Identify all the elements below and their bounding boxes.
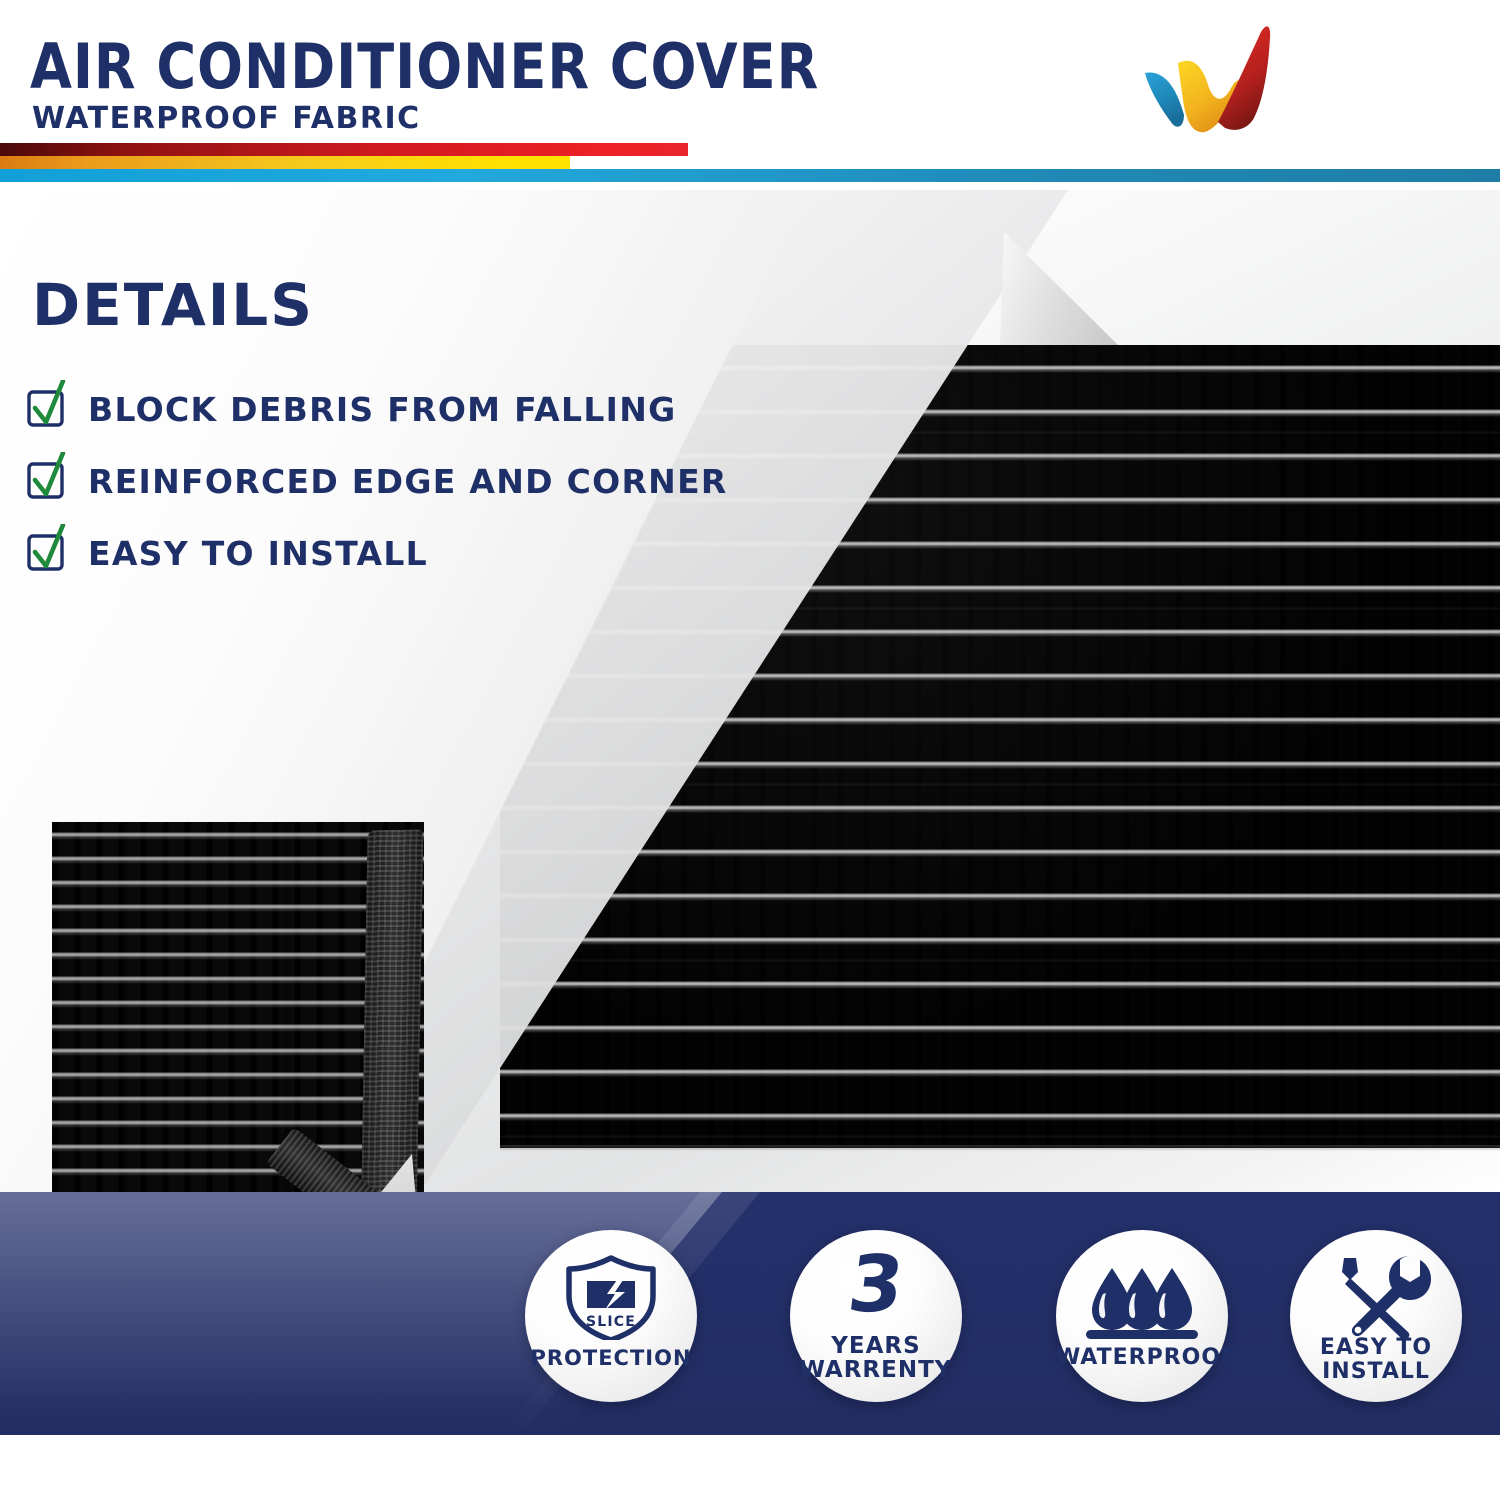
badge-label-line1: YEARS <box>831 1333 920 1359</box>
shield-slice-icon: SLICE <box>525 1252 697 1340</box>
brand-wave-logo-icon <box>1135 10 1295 150</box>
list-item: REINFORCED EDGE AND CORNER <box>26 452 806 524</box>
footer-feature-band: SLICE PROTECTION 3 YEARS WARRENTY <box>0 1192 1500 1435</box>
details-heading: DETAILS <box>32 276 314 334</box>
page-title: AIR CONDITIONER COVER <box>30 36 819 98</box>
details-panel: DETAILS BLOCK DEBRIS FROM FALLING <box>0 190 820 670</box>
wrench-screwdriver-icon <box>1290 1252 1462 1340</box>
svg-text:SLICE: SLICE <box>586 1314 636 1330</box>
product-infographic: AIR CONDITIONER COVER WATERPROOF FABRIC <box>0 0 1500 1500</box>
list-item: EASY TO INSTALL <box>26 524 806 596</box>
feature-badges: SLICE PROTECTION 3 YEARS WARRENTY <box>0 1192 1500 1435</box>
number-3-icon: 3 <box>785 1246 967 1324</box>
badge-label-line1: EASY TO <box>1320 1335 1432 1360</box>
list-item-label: REINFORCED EDGE AND CORNER <box>88 462 728 502</box>
list-item-label: EASY TO INSTALL <box>88 534 428 574</box>
fabric-shadow <box>500 1145 1500 1151</box>
list-item-label: BLOCK DEBRIS FROM FALLING <box>88 390 677 430</box>
corner-detail-photo <box>52 822 458 1192</box>
badge-label-line2: INSTALL <box>1322 1359 1430 1384</box>
badge-label-line2: WARRENTY <box>800 1357 953 1383</box>
badge-protection: SLICE PROTECTION <box>525 1230 697 1402</box>
accent-stripe-yellow <box>0 156 570 169</box>
badge-label: EASY TO INSTALL <box>1290 1336 1462 1384</box>
accent-stripe-blue <box>0 169 1500 182</box>
badge-label: WATERPROOF <box>1056 1346 1228 1370</box>
badge-label: YEARS WARRENTY <box>790 1334 962 1382</box>
list-item: BLOCK DEBRIS FROM FALLING <box>26 380 806 452</box>
header: AIR CONDITIONER COVER WATERPROOF FABRIC <box>0 0 1500 190</box>
water-droplets-icon <box>1056 1252 1228 1340</box>
badge-warranty: 3 YEARS WARRENTY <box>790 1230 962 1402</box>
checkbox-check-icon <box>26 532 70 576</box>
corner-hem-right <box>361 829 424 1192</box>
page-subtitle: WATERPROOF FABRIC <box>32 104 421 134</box>
accent-stripe-red <box>0 143 688 156</box>
details-list: BLOCK DEBRIS FROM FALLING REINFORCED EDG… <box>26 380 806 596</box>
badge-label: PROTECTION <box>525 1346 697 1370</box>
badge-waterproof: WATERPROOF <box>1056 1230 1228 1402</box>
checkbox-check-icon <box>26 388 70 432</box>
checkbox-check-icon <box>26 460 70 504</box>
badge-easy-to-install: EASY TO INSTALL <box>1290 1230 1462 1402</box>
